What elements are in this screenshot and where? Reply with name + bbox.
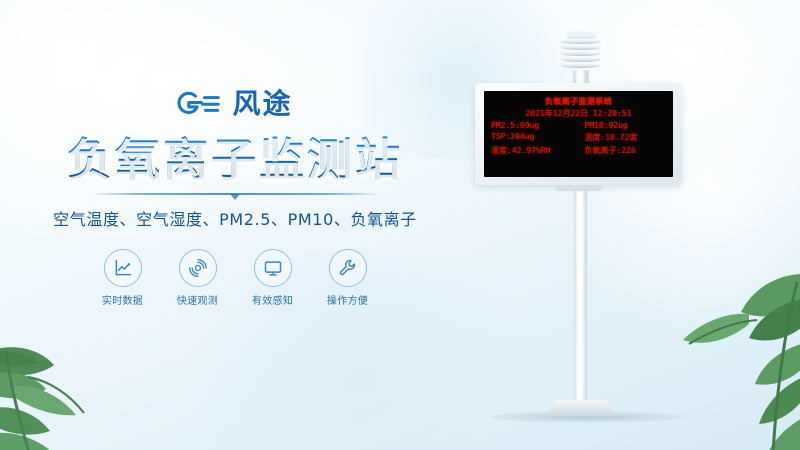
display-reading-row: TSP:204ug 温度:10.72度	[491, 132, 666, 143]
reading-humidity: 湿度:42.97%RH	[491, 145, 579, 156]
display-reading-row: 湿度:42.97%RH 负氧离子:226	[491, 145, 666, 156]
shield-plate	[561, 63, 601, 68]
brand-name: 风途	[232, 90, 292, 118]
shield-cap	[566, 26, 596, 39]
feature-label: 有效感知	[247, 292, 299, 307]
feature-icon-ring	[254, 249, 292, 287]
feature-list: 实时数据 快速观测	[0, 249, 470, 307]
feature-item-realtime-data: 实时数据	[97, 249, 149, 307]
g-arrow-logo-icon	[177, 91, 223, 117]
page-subtitle: 空气温度、空气湿度、PM2.5、PM10、负氧离子	[0, 206, 470, 230]
feature-label: 实时数据	[97, 292, 149, 307]
reading-pm25: PM2.5:69ug	[491, 121, 579, 130]
reading-tsp: TSP:204ug	[491, 132, 579, 143]
brand-logo: 风途	[0, 84, 470, 124]
display-title: 负氧离子监测系统	[491, 96, 666, 107]
feature-icon-ring	[329, 249, 367, 287]
led-display-screen: 负氧离子监测系统 2021年12月22日 12:20:51 PM2.5:69ug…	[484, 91, 673, 177]
feature-label: 快速观测	[172, 292, 224, 307]
line-chart-icon	[113, 258, 133, 278]
radar-scan-icon	[188, 258, 208, 278]
feature-item-effective-sensing: 有效感知	[247, 249, 299, 307]
display-reading-row: PM2.5:69ug PM10:92ug	[491, 121, 666, 130]
reading-temperature: 温度:10.72度	[579, 132, 667, 143]
page-title: 负氧离子监测站	[0, 136, 470, 183]
led-display-frame: 负氧离子监测系统 2021年12月22日 12:20:51 PM2.5:69ug…	[475, 83, 682, 185]
title-divider	[90, 193, 380, 195]
screen-mount-bracket	[556, 185, 602, 191]
wrench-icon	[338, 258, 358, 278]
shield-plate	[561, 51, 601, 56]
shield-plate	[561, 57, 601, 62]
shield-plate	[561, 39, 601, 44]
feature-item-fast-observation: 快速观测	[172, 249, 224, 307]
feature-label: 操作方便	[322, 292, 374, 307]
shield-plate	[561, 45, 601, 50]
reading-negative-oxygen-ions: 负氧离子:226	[579, 145, 667, 156]
feature-icon-ring	[179, 249, 217, 287]
monitor-icon	[263, 258, 283, 278]
reading-pm10: PM10:92ug	[579, 121, 667, 130]
feature-item-easy-operation: 操作方便	[322, 249, 374, 307]
poster-canvas: 风途 负氧离子监测站 空气温度、空气湿度、PM2.5、PM10、负氧离子 实时数…	[0, 0, 800, 450]
hero-text-panel: 风途 负氧离子监测站 空气温度、空气湿度、PM2.5、PM10、负氧离子 实时数…	[0, 84, 470, 307]
display-datetime: 2021年12月22日 12:20:51	[491, 108, 666, 119]
base-plate-icon	[546, 400, 616, 416]
monitoring-station-device: 负氧离子监测系统 2021年12月22日 12:20:51 PM2.5:69ug…	[430, 0, 800, 450]
feature-icon-ring	[104, 249, 142, 287]
green-leaves-icon	[0, 291, 138, 450]
